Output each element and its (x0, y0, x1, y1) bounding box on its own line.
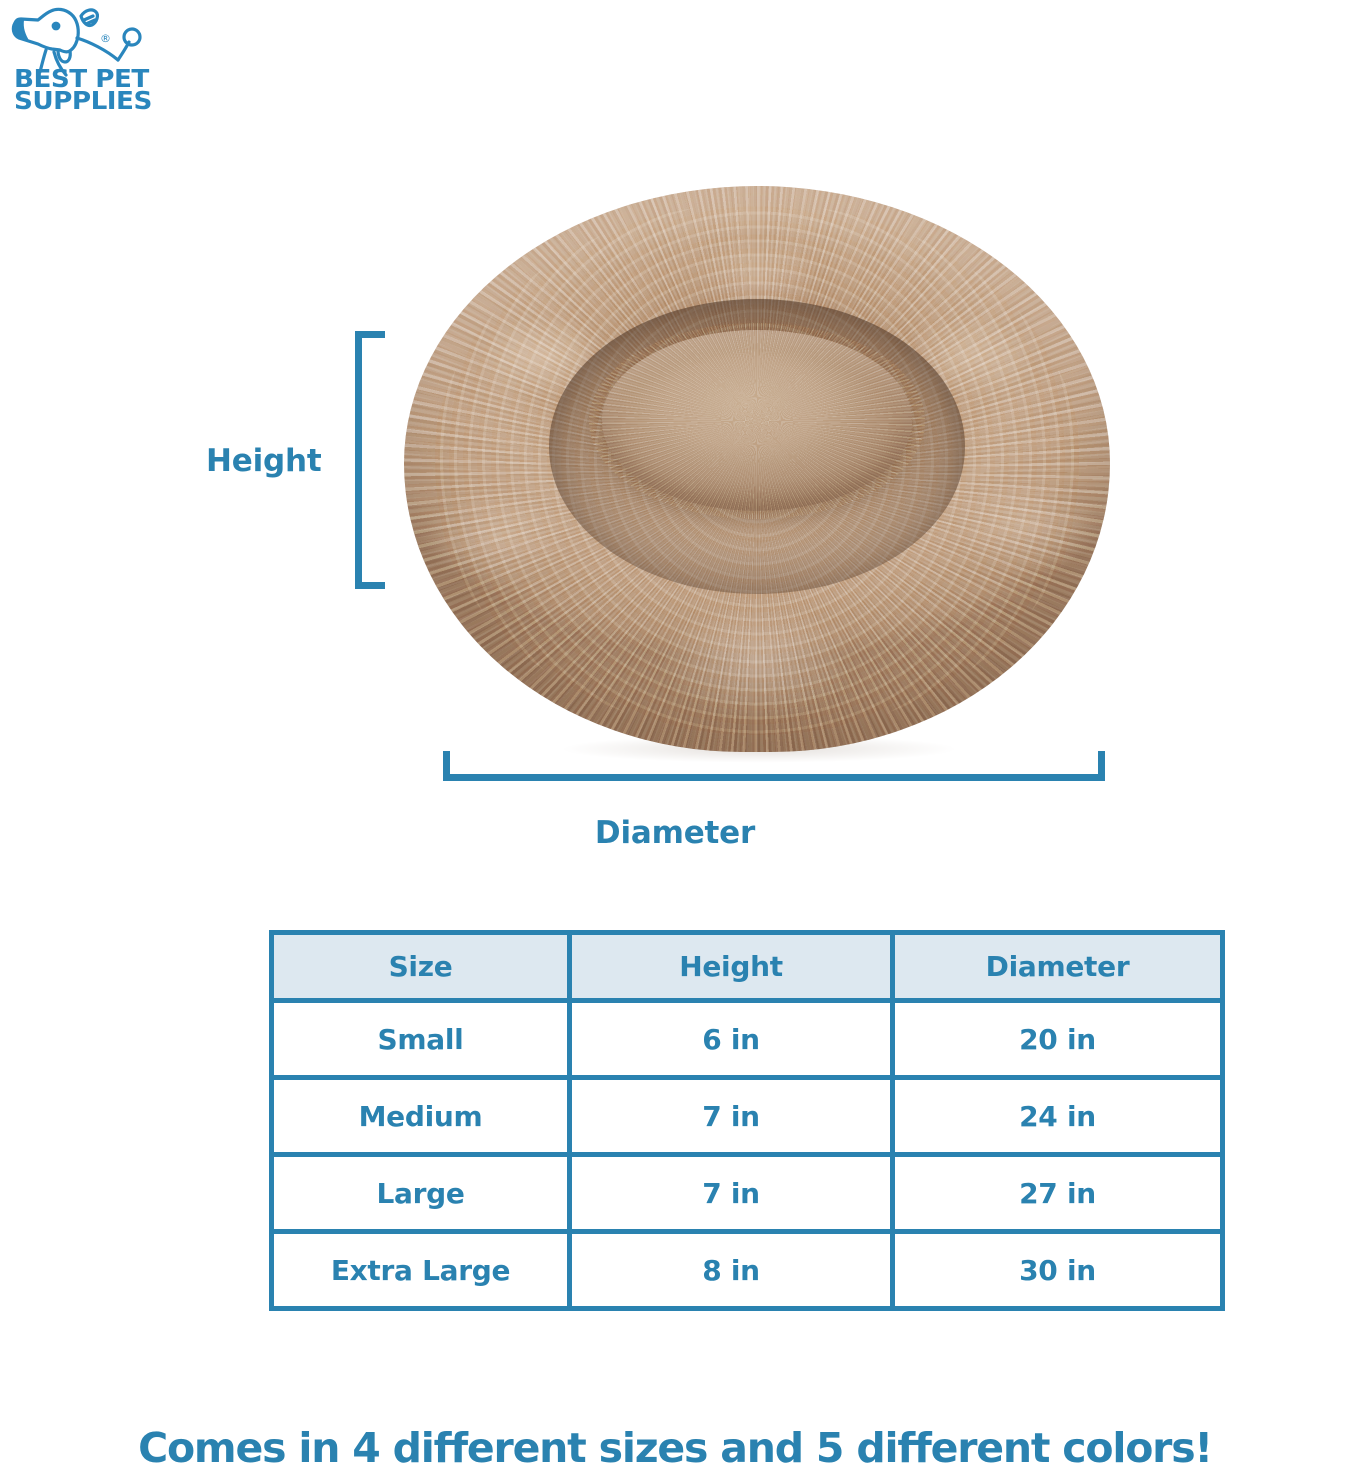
bed-outer-rim (404, 186, 1110, 752)
column-header-height: Height (570, 933, 893, 1001)
diameter-measurement-bracket (443, 751, 1105, 781)
cell-height: 8 in (570, 1232, 893, 1309)
cell-height: 7 in (570, 1155, 893, 1232)
cell-height: 6 in (570, 1001, 893, 1078)
product-image-pet-bed (398, 176, 1120, 760)
footer-tagline: Comes in 4 different sizes and 5 differe… (0, 1424, 1350, 1472)
cell-diameter: 20 in (893, 1001, 1223, 1078)
column-header-size: Size (272, 933, 570, 1001)
table-row: Large 7 in 27 in (272, 1155, 1223, 1232)
cell-diameter: 30 in (893, 1232, 1223, 1309)
brand-logo: ® BEST PET SUPPLIES (8, 6, 168, 131)
brand-wordmark: BEST PET SUPPLIES (14, 68, 172, 111)
cell-size: Medium (272, 1078, 570, 1155)
registered-trademark-symbol: ® (100, 32, 111, 45)
cell-height: 7 in (570, 1078, 893, 1155)
cell-diameter: 27 in (893, 1155, 1223, 1232)
table-row: Extra Large 8 in 30 in (272, 1232, 1223, 1309)
cell-diameter: 24 in (893, 1078, 1223, 1155)
cell-size: Extra Large (272, 1232, 570, 1309)
column-header-diameter: Diameter (893, 933, 1223, 1001)
height-measurement-bracket (355, 331, 385, 589)
table-header-row: Size Height Diameter (272, 933, 1223, 1001)
height-label: Height (206, 443, 321, 479)
cushion-fur-texture (589, 323, 924, 519)
cell-size: Large (272, 1155, 570, 1232)
table-row: Small 6 in 20 in (272, 1001, 1223, 1078)
cell-size: Small (272, 1001, 570, 1078)
table-row: Medium 7 in 24 in (272, 1078, 1223, 1155)
size-chart-table: Size Height Diameter Small 6 in 20 in Me… (269, 930, 1225, 1311)
brand-name-line2: SUPPLIES (14, 90, 172, 112)
bed-center-cushion (602, 330, 913, 511)
diameter-label: Diameter (0, 815, 1350, 851)
